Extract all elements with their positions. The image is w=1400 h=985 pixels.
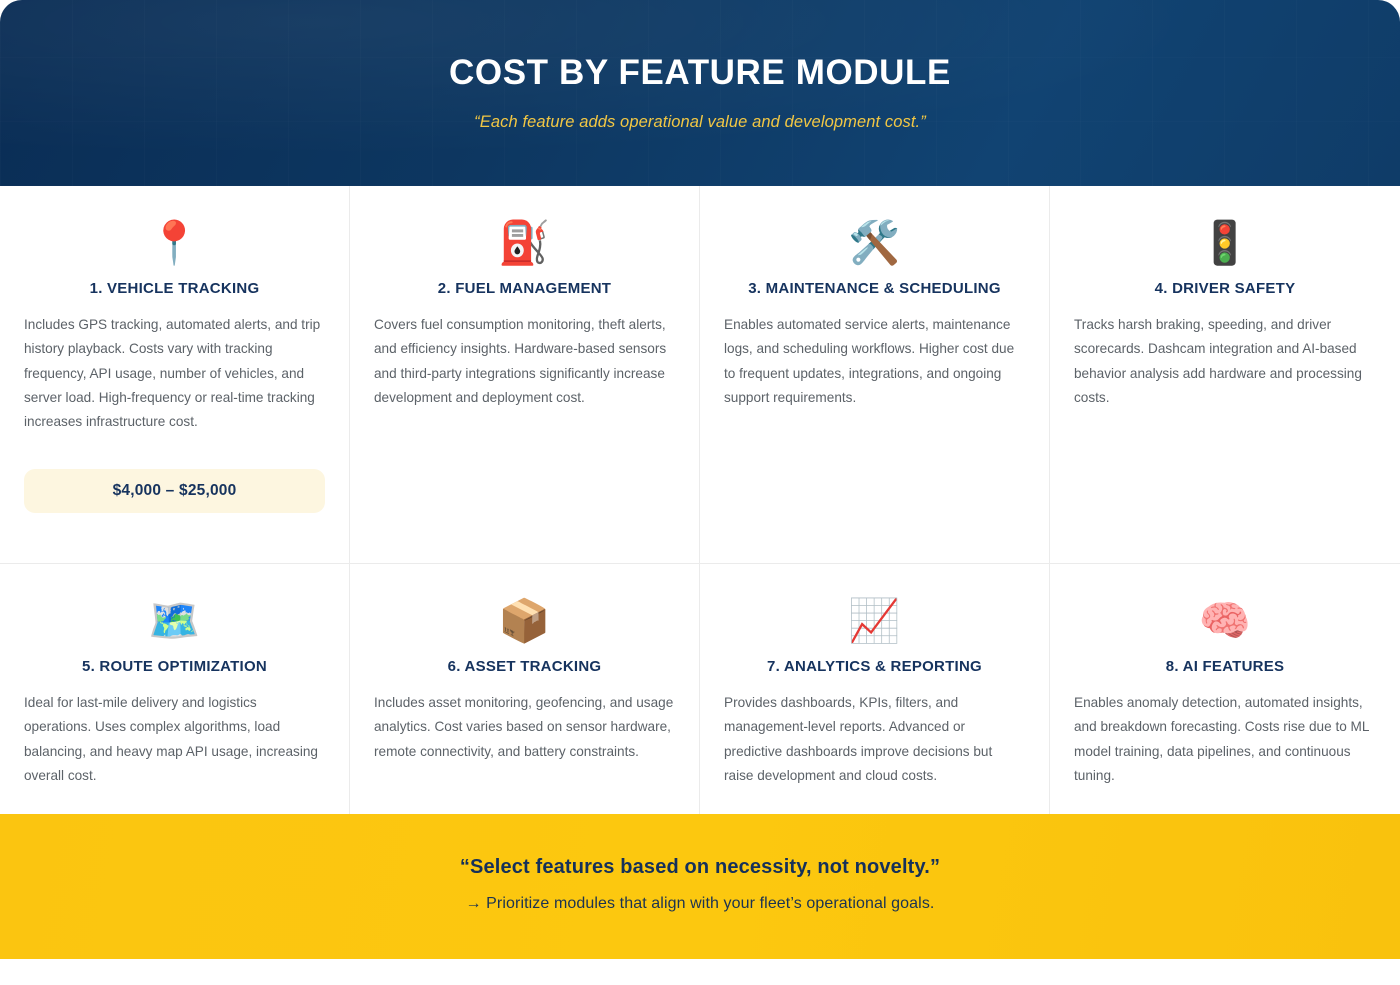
footer-quote: “Select features based on necessity, not…	[40, 856, 1360, 879]
feature-card-2[interactable]: ⛽ 2. FUEL MANAGEMENT Covers fuel consump…	[350, 186, 700, 564]
feature-card-description: Covers fuel consumption monitoring, thef…	[374, 313, 675, 411]
feature-card-5[interactable]: 🗺️ 5. ROUTE OPTIMIZATION Ideal for last-…	[0, 564, 350, 814]
footer-note: → Prioritize modules that align with you…	[40, 895, 1360, 913]
feature-card-7[interactable]: 📈 7. ANALYTICS & REPORTING Provides dash…	[700, 564, 1050, 814]
price-badge: $4,000 – $25,000	[24, 469, 325, 513]
feature-card-title: 7. ANALYTICS & REPORTING	[724, 658, 1025, 677]
page-title: COST BY FEATURE MODULE	[449, 54, 951, 93]
header-banner: COST BY FEATURE MODULE “Each feature add…	[0, 0, 1400, 186]
feature-card-1[interactable]: 📍 1. VEHICLE TRACKING Includes GPS track…	[0, 186, 350, 564]
fuel-pump-icon: ⛽	[374, 216, 675, 270]
world-map-icon: 🗺️	[24, 594, 325, 648]
round-pushpin-icon: 📍	[24, 216, 325, 270]
feature-card-description: Includes asset monitoring, geofencing, a…	[374, 691, 675, 764]
feature-card-grid: 📍 1. VEHICLE TRACKING Includes GPS track…	[0, 186, 1400, 814]
feature-card-title: 2. FUEL MANAGEMENT	[374, 280, 675, 299]
footer-banner: “Select features based on necessity, not…	[0, 814, 1400, 959]
hammer-and-wrench-icon: 🛠️	[724, 216, 1025, 270]
feature-card-description: Tracks harsh braking, speeding, and driv…	[1074, 313, 1376, 411]
feature-card-title: 4. DRIVER SAFETY	[1074, 280, 1376, 299]
feature-card-title: 3. MAINTENANCE & SCHEDULING	[724, 280, 1025, 299]
package-box-icon: 📦	[374, 594, 675, 648]
feature-card-4[interactable]: 🚦 4. DRIVER SAFETY Tracks harsh braking,…	[1050, 186, 1400, 564]
feature-card-description: Enables automated service alerts, mainte…	[724, 313, 1025, 411]
infographic-root: COST BY FEATURE MODULE “Each feature add…	[0, 0, 1400, 985]
feature-card-description: Enables anomaly detection, automated ins…	[1074, 691, 1376, 789]
feature-card-title: 5. ROUTE OPTIMIZATION	[24, 658, 325, 677]
feature-card-8[interactable]: 🧠 8. AI FEATURES Enables anomaly detecti…	[1050, 564, 1400, 814]
traffic-light-icon: 🚦	[1074, 216, 1376, 270]
feature-card-title: 1. VEHICLE TRACKING	[24, 280, 325, 299]
feature-card-description: Ideal for last-mile delivery and logisti…	[24, 691, 325, 789]
feature-card-description: Provides dashboards, KPIs, filters, and …	[724, 691, 1025, 789]
feature-card-3[interactable]: 🛠️ 3. MAINTENANCE & SCHEDULING Enables a…	[700, 186, 1050, 564]
feature-card-6[interactable]: 📦 6. ASSET TRACKING Includes asset monit…	[350, 564, 700, 814]
feature-card-description: Includes GPS tracking, automated alerts,…	[24, 313, 325, 435]
feature-card-title: 8. AI FEATURES	[1074, 658, 1376, 677]
brain-icon: 🧠	[1074, 594, 1376, 648]
chart-increasing-icon: 📈	[724, 594, 1025, 648]
header-subtitle: “Each feature adds operational value and…	[474, 113, 926, 132]
feature-card-title: 6. ASSET TRACKING	[374, 658, 675, 677]
